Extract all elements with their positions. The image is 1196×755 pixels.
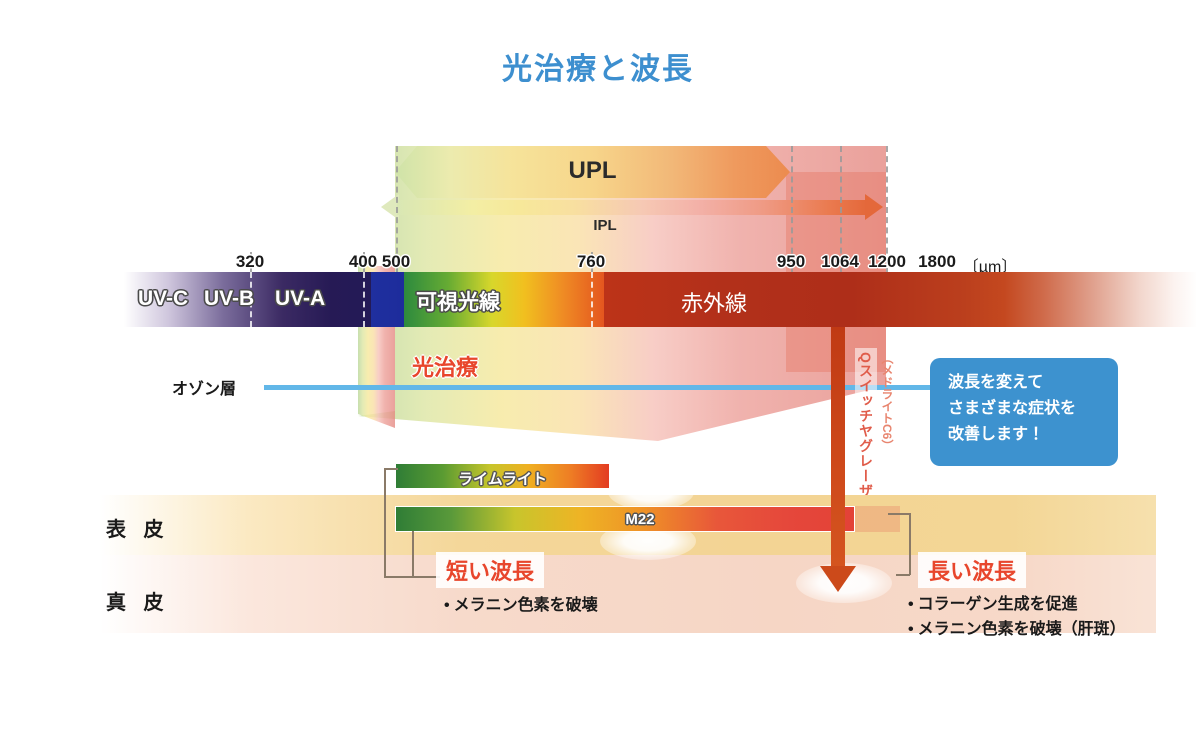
callout-line-1: 波長を変えて bbox=[948, 370, 1118, 396]
scale-tick-760: 760 bbox=[561, 252, 621, 272]
upl-label: UPL bbox=[395, 157, 790, 185]
long-wavelength-heading: 長い波長 bbox=[918, 552, 1026, 588]
ipl-label: IPL bbox=[500, 217, 710, 234]
limelight-label: ライムライト bbox=[395, 468, 610, 489]
long-wavelength-bullets: •コラーゲン生成を促進 •メラニン色素を破壊（肝斑） bbox=[908, 592, 1126, 642]
bracket-limelight-top bbox=[384, 468, 398, 470]
spectrum-divider-760 bbox=[591, 272, 593, 327]
spectrum-label-visible: 可視光線 bbox=[416, 286, 500, 316]
bracket-long-vertical bbox=[909, 513, 911, 575]
spectrum-bar: UV-C UV-B UV-A 可視光線 赤外線 bbox=[124, 272, 1074, 327]
qswitch-model-label: （メドライトC6） bbox=[878, 352, 896, 451]
scale-tick-320: 320 bbox=[220, 252, 280, 272]
ozone-layer-label: オゾン層 bbox=[172, 375, 236, 399]
page-title: 光治療と波長 bbox=[0, 44, 1196, 88]
m22-label: M22 bbox=[600, 511, 680, 528]
callout-line-3: 改善します！ bbox=[948, 422, 1118, 448]
bullet-icon: • bbox=[444, 597, 450, 614]
short-wavelength-heading: 短い波長 bbox=[436, 552, 544, 588]
spectrum-label-uvb: UV-B bbox=[204, 287, 254, 311]
infographic-canvas: 光治療と波長 UPL IPL 320 bbox=[0, 0, 1196, 755]
list-item: •コラーゲン生成を促進 bbox=[908, 592, 1126, 617]
spectrum-label-uva: UV-A bbox=[275, 287, 325, 311]
callout-line-2: さまざまな症状を bbox=[948, 396, 1118, 422]
list-item: •メラニン色素を破壊（肝斑） bbox=[908, 617, 1126, 642]
limelight-glow bbox=[608, 474, 694, 510]
dermis-label: 真 皮 bbox=[106, 586, 170, 615]
callout-text: 波長を変えて さまざまな症状を 改善します！ bbox=[948, 370, 1118, 448]
spectrum-label-infrared: 赤外線 bbox=[681, 286, 747, 318]
ipl-arrow-shaft bbox=[397, 200, 867, 215]
spectrum-fade-segment bbox=[1004, 272, 1196, 327]
bullet-icon: • bbox=[908, 621, 914, 638]
bracket-long-top bbox=[888, 513, 910, 515]
spectrum-infrared-segment bbox=[604, 272, 1004, 327]
m22-tail-block bbox=[855, 506, 900, 532]
epidermis-label: 表 皮 bbox=[106, 513, 170, 542]
phototherapy-label: 光治療 bbox=[412, 350, 478, 382]
list-item: •メラニン色素を破壊 bbox=[444, 591, 598, 615]
spectrum-blue-segment bbox=[371, 272, 404, 327]
spectrum-divider-400 bbox=[363, 272, 365, 327]
laser-arrow-head bbox=[820, 566, 856, 592]
bracket-m22-vertical bbox=[412, 531, 414, 577]
short-wavelength-bullets: •メラニン色素を破壊 bbox=[444, 591, 598, 615]
spectrum-label-uvc: UV-C bbox=[138, 287, 188, 311]
scale-tick-500: 500 bbox=[368, 252, 424, 272]
ipl-arrow-right-head bbox=[865, 194, 883, 220]
bracket-limelight-vertical bbox=[384, 468, 386, 578]
bullet-icon: • bbox=[908, 596, 914, 613]
laser-arrow-shaft bbox=[831, 327, 845, 572]
qswitch-laser-label: Qスイッチヤグレーザー bbox=[856, 352, 876, 514]
bracket-long-bottom bbox=[896, 574, 910, 576]
